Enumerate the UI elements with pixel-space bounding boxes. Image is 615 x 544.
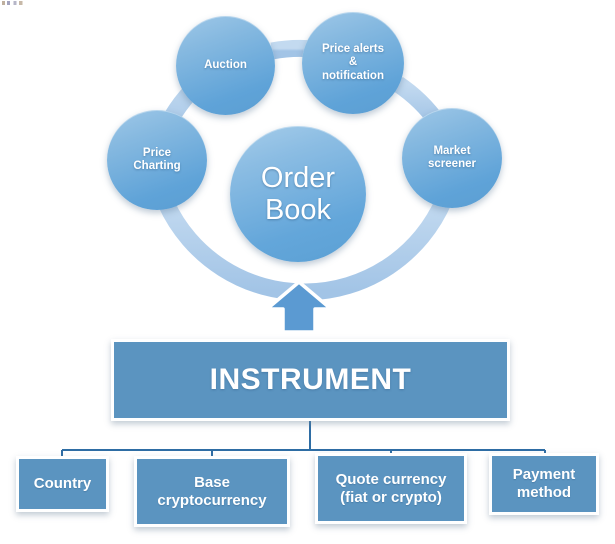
diagram-canvas: PriceCharting Auction Price alerts&notif… <box>0 0 615 544</box>
label-line-2: (fiat or crypto) <box>340 489 442 506</box>
cycle-node-price-charting[interactable]: PriceCharting <box>107 110 207 210</box>
label-line-2: cryptocurrency <box>157 492 266 509</box>
cycle-node-market-screener[interactable]: Marketscreener <box>402 108 502 208</box>
label-line-1: Order <box>261 162 335 194</box>
up-arrow-icon <box>265 280 333 335</box>
tree-box-label: Country <box>30 475 96 493</box>
cycle-node-label: PriceCharting <box>127 147 186 174</box>
cycle-node-auction[interactable]: Auction <box>176 16 275 115</box>
tree-box-label: Quote currency(fiat or crypto) <box>332 471 451 506</box>
cycle-center-label: OrderBook <box>255 162 341 227</box>
label-line-2: method <box>517 484 571 501</box>
tree-box-label: Basecryptocurrency <box>153 474 270 509</box>
label-line-1: Quote currency <box>336 471 447 488</box>
instrument-box[interactable]: INSTRUMENT <box>111 339 510 421</box>
cycle-node-label: Price alerts&notification <box>316 43 390 83</box>
label-line-1: Payment <box>513 466 576 483</box>
top-left-artifact <box>2 1 28 5</box>
label-line-1: Price alerts <box>322 43 384 55</box>
label-line-2: Charting <box>133 160 180 172</box>
tree-box-label: Paymentmethod <box>509 466 580 501</box>
label-line-2: Book <box>265 194 331 226</box>
tree-box-quote-currency[interactable]: Quote currency(fiat or crypto) <box>315 453 467 524</box>
label-line-2: screener <box>428 158 476 170</box>
label-line-1: Auction <box>204 59 247 71</box>
label-line-1: Market <box>433 145 470 157</box>
label-line-1: Base <box>194 474 230 491</box>
label-line-3: notification <box>322 70 384 82</box>
tree-box-base-cryptocurrency[interactable]: Basecryptocurrency <box>134 456 290 527</box>
label-line-2: & <box>349 56 357 68</box>
cycle-node-price-alerts[interactable]: Price alerts&notification <box>302 12 404 114</box>
label-line-1: Price <box>143 147 171 159</box>
tree-box-payment-method[interactable]: Paymentmethod <box>489 453 599 515</box>
cycle-node-label: Marketscreener <box>422 145 482 172</box>
instrument-label: INSTRUMENT <box>206 362 416 397</box>
label-line-1: Country <box>34 475 92 492</box>
tree-box-country[interactable]: Country <box>16 456 109 512</box>
cycle-node-order-book[interactable]: OrderBook <box>230 126 366 262</box>
cycle-node-label: Auction <box>198 59 253 72</box>
